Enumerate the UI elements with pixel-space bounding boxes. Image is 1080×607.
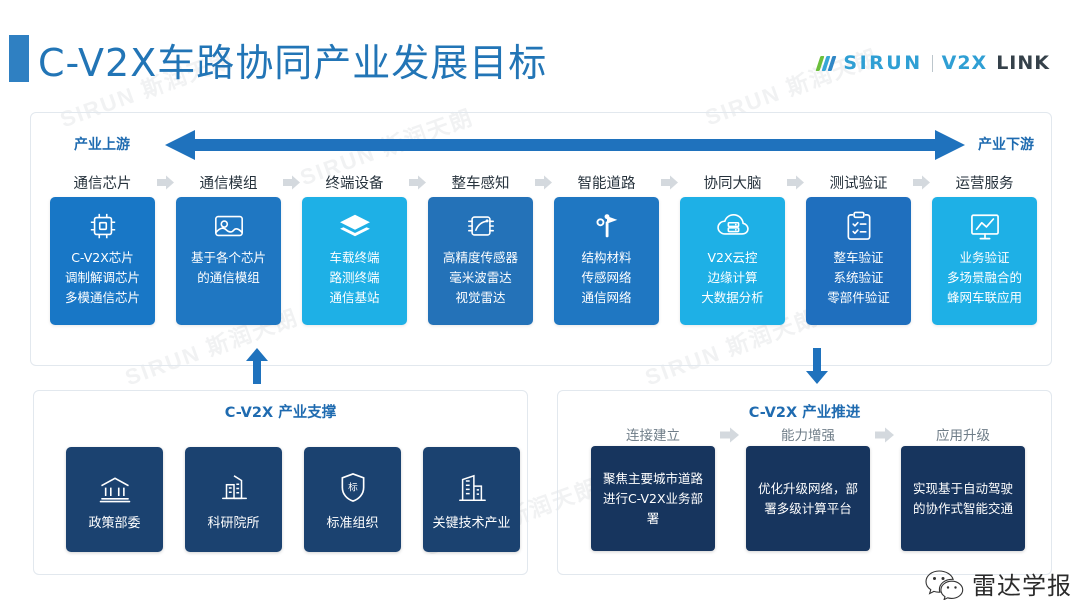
brand-v2x-text: V2X — [942, 52, 988, 74]
stage-header-6: 协同大脑 — [680, 172, 785, 193]
chip-icon — [88, 209, 118, 243]
traffic-road-icon — [592, 209, 622, 243]
bidirectional-arrow-icon — [165, 128, 965, 162]
bank-icon — [99, 469, 131, 503]
promote-card-1[interactable]: 聚焦主要城市道路进行C-V2X业务部署 — [591, 446, 715, 551]
stage-card-lines: 业务验证多场景融合的蜂网车联应用 — [947, 249, 1022, 307]
stage-card-lines: 高精度传感器毫米波雷达视觉雷达 — [443, 249, 518, 307]
stage-card-line: C-V2X芯片 — [71, 249, 134, 267]
stage-card-line: 通信基站 — [329, 289, 379, 307]
stage-arrow-icon — [409, 175, 426, 190]
stage-card-7[interactable]: 整车验证系统验证零部件验证 — [806, 197, 911, 325]
layers-icon — [339, 209, 371, 243]
brand-sirun-text: SIRUN — [843, 52, 922, 74]
stage-arrow-icon — [661, 175, 678, 190]
promote-step-header-3: 应用升级 — [901, 424, 1025, 444]
stage-card-lines: 整车验证系统验证零部件验证 — [827, 249, 890, 307]
support-card-2[interactable]: 科研院所 — [185, 447, 282, 552]
sensor-icon — [466, 209, 496, 243]
page-title: C-V2X车路协同产业发展目标 — [38, 32, 547, 87]
arrow-down-icon — [806, 348, 828, 384]
institute-icon — [219, 469, 249, 503]
promote-card-text: 实现基于自动驾驶的协作式智能交通 — [909, 479, 1017, 519]
stage-header-7: 测试验证 — [806, 172, 911, 193]
stage-card-8[interactable]: 业务验证多场景融合的蜂网车联应用 — [932, 197, 1037, 325]
stage-card-4[interactable]: 高精度传感器毫米波雷达视觉雷达 — [428, 197, 533, 325]
support-panel: C-V2X 产业支撑 政策部委科研院所标标准组织关键技术产业 — [33, 390, 528, 575]
stage-header-row: 通信芯片通信模组终端设备整车感知智能道路协同大脑测试验证运营服务 — [50, 172, 1036, 196]
stage-card-line: 高精度传感器 — [443, 249, 518, 267]
stage-card-line: 车载终端 — [329, 249, 379, 267]
cloud-server-icon — [716, 209, 750, 243]
wechat-icon — [924, 568, 964, 600]
stage-card-line: 结构材料 — [581, 249, 631, 267]
support-panel-title: C-V2X 产业支撑 — [34, 401, 527, 422]
direction-bar: 产业上游 产业下游 — [30, 128, 1050, 162]
support-card-label: 标准组织 — [326, 512, 378, 531]
stage-card-line: 毫米波雷达 — [449, 269, 512, 287]
stage-card-lines: 车载终端路测终端通信基站 — [329, 249, 379, 307]
stage-card-lines: 结构材料传感网络通信网络 — [581, 249, 631, 307]
stage-arrow-icon — [283, 175, 300, 190]
stage-header-4: 整车感知 — [428, 172, 533, 193]
promote-card-3[interactable]: 实现基于自动驾驶的协作式智能交通 — [901, 446, 1025, 551]
stage-card-line: 的通信模组 — [197, 269, 260, 287]
stage-card-line: 通信网络 — [581, 289, 631, 307]
promote-card-2[interactable]: 优化升级网络，部署多级计算平台 — [746, 446, 870, 551]
stage-card-6[interactable]: V2X云控边缘计算大数据分析 — [680, 197, 785, 325]
support-card-label: 政策部委 — [88, 512, 140, 531]
page-header: C-V2X车路协同产业发展目标 SIRUN V2X LINK — [0, 0, 1080, 100]
stage-card-line: 业务验证 — [959, 249, 1009, 267]
stage-arrow-icon — [913, 175, 930, 190]
stage-card-line: 传感网络 — [581, 269, 631, 287]
promote-panel: C-V2X 产业推进 连接建立聚焦主要城市道路进行C-V2X业务部署能力增强优化… — [557, 390, 1052, 575]
module-card-icon — [213, 209, 245, 243]
factory-icon — [457, 469, 487, 503]
upstream-label: 产业上游 — [74, 134, 130, 154]
support-card-4[interactable]: 关键技术产业 — [423, 447, 520, 552]
stage-card-line: 大数据分析 — [701, 289, 764, 307]
promote-step-header-1: 连接建立 — [591, 424, 715, 444]
support-card-label: 关键技术产业 — [432, 512, 510, 531]
stage-card-line: 蜂网车联应用 — [947, 289, 1022, 307]
clipboard-check-icon — [845, 209, 873, 243]
stage-card-line: 零部件验证 — [827, 289, 890, 307]
stage-card-5[interactable]: 结构材料传感网络通信网络 — [554, 197, 659, 325]
wechat-account-name: 雷达学报 — [972, 566, 1072, 601]
brand-divider — [932, 55, 933, 72]
support-card-label: 科研院所 — [207, 512, 259, 531]
title-accent-bar — [9, 35, 29, 82]
stage-card-2[interactable]: 基于各个芯片的通信模组 — [176, 197, 281, 325]
stage-arrow-icon — [157, 175, 174, 190]
wechat-badge: 雷达学报 — [924, 566, 1072, 601]
stage-card-3[interactable]: 车载终端路测终端通信基站 — [302, 197, 407, 325]
stage-header-8: 运营服务 — [932, 172, 1037, 193]
stage-cards-row: C-V2X芯片调制解调芯片多模通信芯片基于各个芯片的通信模组车载终端路测终端通信… — [50, 197, 1036, 325]
stage-card-line: 基于各个芯片 — [191, 249, 266, 267]
promote-card-text: 优化升级网络，部署多级计算平台 — [754, 479, 862, 519]
stage-card-line: 调制解调芯片 — [65, 269, 140, 287]
shield-standard-icon: 标 — [339, 469, 367, 503]
stage-card-lines: V2X云控边缘计算大数据分析 — [701, 249, 764, 307]
stage-card-line: 多场景融合的 — [947, 269, 1022, 287]
stage-card-lines: C-V2X芯片调制解调芯片多模通信芯片 — [65, 249, 140, 307]
stage-card-1[interactable]: C-V2X芯片调制解调芯片多模通信芯片 — [50, 197, 155, 325]
stage-header-5: 智能道路 — [554, 172, 659, 193]
promote-step-arrow-icon — [875, 427, 894, 443]
promote-card-text: 聚焦主要城市道路进行C-V2X业务部署 — [599, 469, 707, 529]
support-card-3[interactable]: 标标准组织 — [304, 447, 401, 552]
stage-header-1: 通信芯片 — [50, 172, 155, 193]
stage-card-line: 边缘计算 — [707, 269, 757, 287]
stage-header-3: 终端设备 — [302, 172, 407, 193]
arrow-up-icon — [246, 348, 268, 384]
stage-arrow-icon — [535, 175, 552, 190]
stage-card-line: 视觉雷达 — [455, 289, 505, 307]
downstream-label: 产业下游 — [978, 134, 1034, 154]
stage-card-line: 系统验证 — [833, 269, 883, 287]
stage-card-line: 整车验证 — [833, 249, 883, 267]
stage-card-lines: 基于各个芯片的通信模组 — [191, 249, 266, 287]
stage-card-line: V2X云控 — [707, 249, 757, 267]
stage-card-line: 多模通信芯片 — [65, 289, 140, 307]
stage-arrow-icon — [787, 175, 804, 190]
support-card-1[interactable]: 政策部委 — [66, 447, 163, 552]
svg-text:标: 标 — [348, 481, 358, 493]
brand-link-text: LINK — [996, 52, 1050, 74]
stage-card-line: 路测终端 — [329, 269, 379, 287]
promote-step-header-2: 能力增强 — [746, 424, 870, 444]
stage-header-2: 通信模组 — [176, 172, 281, 193]
promote-panel-title: C-V2X 产业推进 — [558, 401, 1051, 422]
promote-step-arrow-icon — [720, 427, 739, 443]
chart-board-icon — [969, 209, 1001, 243]
sirun-slash-icon — [816, 56, 837, 71]
brand-logo: SIRUN V2X LINK — [818, 52, 1050, 74]
